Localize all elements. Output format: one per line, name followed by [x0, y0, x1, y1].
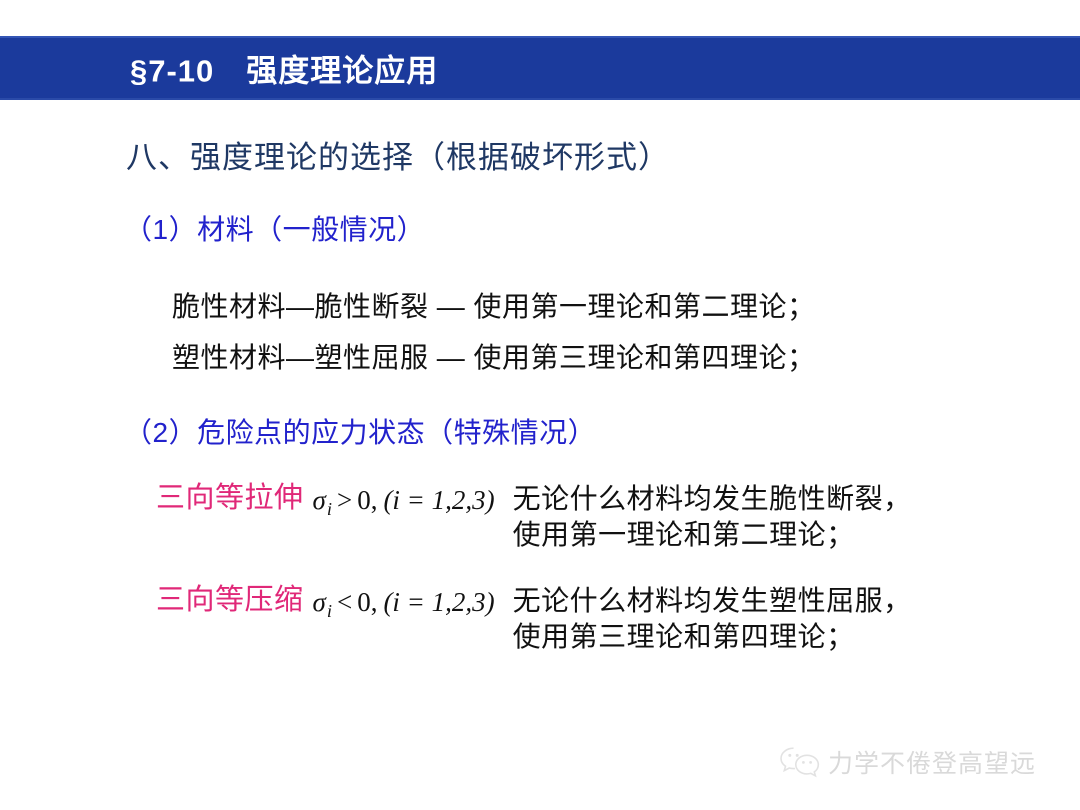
case-2-formula-symbol: σ	[313, 587, 326, 617]
case-1-name: 三向等拉伸	[156, 481, 304, 513]
case-1-description: 无论什么材料均发生脆性断裂， 使用第一理论和第二理论；	[513, 481, 912, 553]
item-2-label: （2）危险点的应力状态（特殊情况）	[124, 411, 596, 451]
case-1-formula-value: 0,	[357, 485, 377, 515]
case-1-formula-index-condition: (i = 1,2,3)	[383, 485, 494, 515]
case-2-description: 无论什么材料均发生塑性屈服， 使用第三理论和第四理论；	[513, 583, 912, 655]
slide-title: §7-10 强度理论应用	[130, 46, 438, 91]
item-1-line-2: 塑性材料—塑性屈服 ― 使用第三理论和第四理论；	[172, 336, 816, 376]
slide-canvas: §7-10 强度理论应用 八、强度理论的选择（根据破坏形式） （1）材料（一般情…	[0, 0, 1080, 810]
case-row: 三向等拉伸 σi>0,(i = 1,2,3) 无论什么材料均发生脆性断裂， 使用…	[156, 481, 912, 553]
watermark: 力学不倦登高望远	[778, 744, 1036, 780]
wechat-icon	[778, 745, 822, 779]
case-2-formula-operator: <	[337, 587, 352, 617]
watermark-text: 力学不倦登高望远	[828, 744, 1036, 780]
item-1-label: （1）材料（一般情况）	[124, 208, 425, 248]
case-1-formula-operator: >	[337, 485, 352, 515]
case-1-formula: σi>0,(i = 1,2,3)	[313, 481, 495, 518]
item-1-line-1: 脆性材料—脆性断裂 ― 使用第一理论和第二理论；	[172, 285, 816, 325]
case-1-formula-symbol: σ	[313, 485, 326, 515]
case-2-formula: σi<0,(i = 1,2,3)	[313, 583, 495, 620]
section-heading: 八、强度理论的选择（根据破坏形式）	[126, 132, 670, 177]
case-2-name: 三向等压缩	[156, 583, 304, 615]
slide-body: 八、强度理论的选择（根据破坏形式） （1）材料（一般情况） 脆性材料—脆性断裂 …	[0, 100, 1080, 810]
title-banner: §7-10 强度理论应用	[0, 36, 1080, 100]
case-1-formula-subscript: i	[327, 499, 332, 519]
case-2-formula-value: 0,	[357, 587, 377, 617]
case-2-formula-subscript: i	[327, 601, 332, 621]
case-row: 三向等压缩 σi<0,(i = 1,2,3) 无论什么材料均发生塑性屈服， 使用…	[156, 583, 912, 655]
case-2-formula-index-condition: (i = 1,2,3)	[383, 587, 494, 617]
